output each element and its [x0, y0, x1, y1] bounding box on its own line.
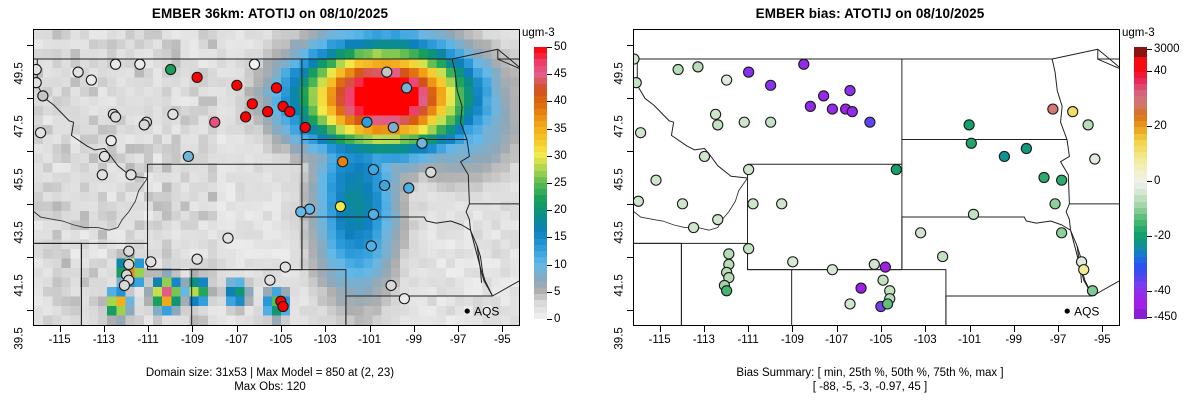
- svg-text:AQS: AQS: [1074, 305, 1099, 319]
- x-tick-label: -101: [958, 334, 981, 346]
- colorbar-tick-label: 20: [554, 204, 567, 216]
- x-tick: [1058, 326, 1059, 332]
- x-tick-label: -111: [137, 334, 158, 346]
- colorbar-tick-label: 0: [554, 313, 560, 325]
- x-tick: [325, 326, 326, 332]
- panel-model-xaxis: -115-113-111-109-107-105-103-101-99-97-9…: [33, 326, 520, 354]
- x-tick: [60, 326, 61, 332]
- colorbar-tick-label: 35: [554, 123, 567, 135]
- x-tick-label: -95: [1094, 334, 1111, 346]
- colorbar-gradient: [534, 29, 547, 319]
- colorbar-tick: [547, 183, 552, 184]
- y-tick: [27, 204, 33, 205]
- colorbar-tick: [1147, 291, 1152, 292]
- y-tick-label: 41.5: [613, 274, 625, 296]
- y-tick: [27, 45, 33, 46]
- x-tick: [1102, 326, 1103, 332]
- x-tick: [704, 326, 705, 332]
- colorbar-tick-label: 0: [1154, 175, 1160, 187]
- panel-model-title: EMBER 36km: ATOTIJ on 08/10/2025: [0, 6, 540, 21]
- y-tick-label: 45.5: [13, 168, 25, 190]
- x-tick: [458, 326, 459, 332]
- colorbar-tick-label: 40: [554, 95, 567, 107]
- y-tick-label: 47.5: [613, 115, 625, 137]
- x-tick: [792, 326, 793, 332]
- y-tick-label: 39.5: [613, 327, 625, 349]
- model-concentration-map: AQS: [34, 30, 519, 325]
- panel-bias-plot[interactable]: AQS: [633, 29, 1120, 326]
- x-tick-label: -103: [314, 334, 337, 346]
- y-tick-label: 39.5: [13, 327, 25, 349]
- x-tick-label: -115: [49, 334, 71, 346]
- y-tick-label: 43.5: [613, 221, 625, 243]
- colorbar-tick-label: 45: [554, 68, 567, 80]
- bias-map: AQS: [634, 30, 1119, 325]
- panel-bias-title: EMBER bias: ATOTIJ on 08/10/2025: [600, 6, 1140, 21]
- panel-model-yaxis: 39.541.543.545.547.549.5: [0, 29, 33, 326]
- figure-root: EMBER 36km: ATOTIJ on 08/10/2025 AQS 39.…: [0, 0, 1200, 409]
- colorbar-tick-label: 20: [1154, 120, 1167, 132]
- x-tick-label: -95: [494, 334, 511, 346]
- colorbar-tick: [547, 101, 552, 102]
- x-tick-label: -107: [225, 334, 248, 346]
- x-tick-label: -109: [181, 334, 204, 346]
- x-tick-label: -115: [649, 334, 671, 346]
- colorbar-tick-label: -20: [1154, 230, 1171, 242]
- x-tick-label: -101: [358, 334, 381, 346]
- colorbar-tick: [547, 210, 552, 211]
- colorbar-tick: [547, 74, 552, 75]
- svg-text:AQS: AQS: [474, 305, 499, 319]
- colorbar-tick: [1147, 49, 1152, 50]
- y-tick: [27, 257, 33, 258]
- y-tick: [627, 204, 633, 205]
- x-tick-label: -107: [825, 334, 848, 346]
- colorbar-tick: [547, 265, 552, 266]
- colorbar-tick: [1147, 236, 1152, 237]
- panel-model-caption-2: Max Obs: 120: [0, 380, 540, 394]
- panel-model-plot[interactable]: AQS: [33, 29, 520, 326]
- x-tick: [370, 326, 371, 332]
- y-tick-label: 41.5: [13, 274, 25, 296]
- colorbar-tick: [547, 292, 552, 293]
- colorbar-tick: [547, 47, 552, 48]
- colorbar-tick-label: -40: [1154, 285, 1171, 297]
- y-tick: [627, 310, 633, 311]
- x-tick: [881, 326, 882, 332]
- x-tick: [148, 326, 149, 332]
- y-tick: [27, 151, 33, 152]
- colorbar-tick: [547, 237, 552, 238]
- panel-bias-caption-1: Bias Summary: [ min, 25th %, 50th %, 75t…: [600, 366, 1140, 380]
- y-tick: [627, 98, 633, 99]
- x-tick: [192, 326, 193, 332]
- y-tick-label: 49.5: [13, 62, 25, 84]
- panel-bias-yaxis: 39.541.543.545.547.549.5: [600, 29, 633, 326]
- colorbar-tick-label: 5: [554, 286, 560, 298]
- y-tick-label: 47.5: [13, 115, 25, 137]
- x-tick-label: -111: [737, 334, 758, 346]
- colorbar-tick-label: 3000: [1154, 43, 1180, 55]
- x-tick: [104, 326, 105, 332]
- y-tick: [627, 151, 633, 152]
- colorbar-tick-label: 40: [1154, 65, 1167, 77]
- x-tick: [837, 326, 838, 332]
- colorbar-gradient: [1134, 29, 1147, 319]
- x-tick-label: -99: [1005, 334, 1022, 346]
- y-tick-label: 49.5: [613, 62, 625, 84]
- y-tick: [27, 98, 33, 99]
- y-tick: [627, 45, 633, 46]
- x-tick: [660, 326, 661, 332]
- y-tick: [27, 310, 33, 311]
- x-tick-label: -97: [1050, 334, 1067, 346]
- colorbar-tick-label: 50: [554, 41, 567, 53]
- x-tick-label: -113: [93, 334, 115, 346]
- colorbar-tick-label: 30: [554, 150, 567, 162]
- colorbar-tick-label: -450: [1154, 311, 1177, 323]
- panel-bias-caption-2: [ -88, -5, -3, -0.97, 45 ]: [600, 380, 1140, 394]
- y-tick-label: 45.5: [613, 168, 625, 190]
- x-tick: [281, 326, 282, 332]
- x-tick-label: -113: [693, 334, 715, 346]
- colorbar-tick: [547, 156, 552, 157]
- x-tick: [237, 326, 238, 332]
- x-tick: [970, 326, 971, 332]
- colorbar-tick: [547, 319, 552, 320]
- x-tick-label: -109: [781, 334, 804, 346]
- colorbar-tick-label: 25: [554, 177, 567, 189]
- x-tick-label: -99: [405, 334, 422, 346]
- colorbar-tick: [1147, 317, 1152, 318]
- x-tick-label: -97: [450, 334, 467, 346]
- x-tick-label: -105: [269, 334, 292, 346]
- colorbar-tick: [1147, 181, 1152, 182]
- panel-model: EMBER 36km: ATOTIJ on 08/10/2025 AQS 39.…: [0, 0, 600, 409]
- x-tick: [502, 326, 503, 332]
- colorbar-tick: [1147, 126, 1152, 127]
- colorbar-tick: [547, 129, 552, 130]
- y-tick-label: 43.5: [13, 221, 25, 243]
- x-tick: [414, 326, 415, 332]
- x-tick: [1014, 326, 1015, 332]
- panel-bias: EMBER bias: ATOTIJ on 08/10/2025 AQS 39.…: [600, 0, 1200, 409]
- x-tick: [748, 326, 749, 332]
- panel-bias-xaxis: -115-113-111-109-107-105-103-101-99-97-9…: [633, 326, 1120, 354]
- colorbar-tick-label: 10: [554, 259, 567, 271]
- x-tick-label: -103: [914, 334, 937, 346]
- colorbar-tick: [1147, 71, 1152, 72]
- y-tick: [627, 257, 633, 258]
- x-tick: [925, 326, 926, 332]
- panel-model-caption-1: Domain size: 31x53 | Max Model = 850 at …: [0, 366, 540, 380]
- x-tick-label: -105: [869, 334, 892, 346]
- colorbar-tick-label: 15: [554, 231, 567, 243]
